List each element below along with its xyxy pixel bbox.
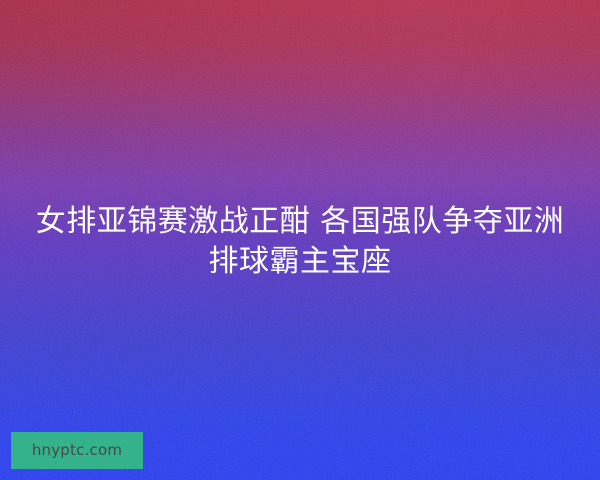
banner-image: 女排亚锦赛激战正酣 各国强队争夺亚洲排球霸主宝座 hnyptc.com [0,0,600,480]
page-title: 女排亚锦赛激战正酣 各国强队争夺亚洲排球霸主宝座 [0,202,600,282]
watermark-badge: hnyptc.com [11,432,143,469]
watermark-label: hnyptc.com [32,443,122,458]
